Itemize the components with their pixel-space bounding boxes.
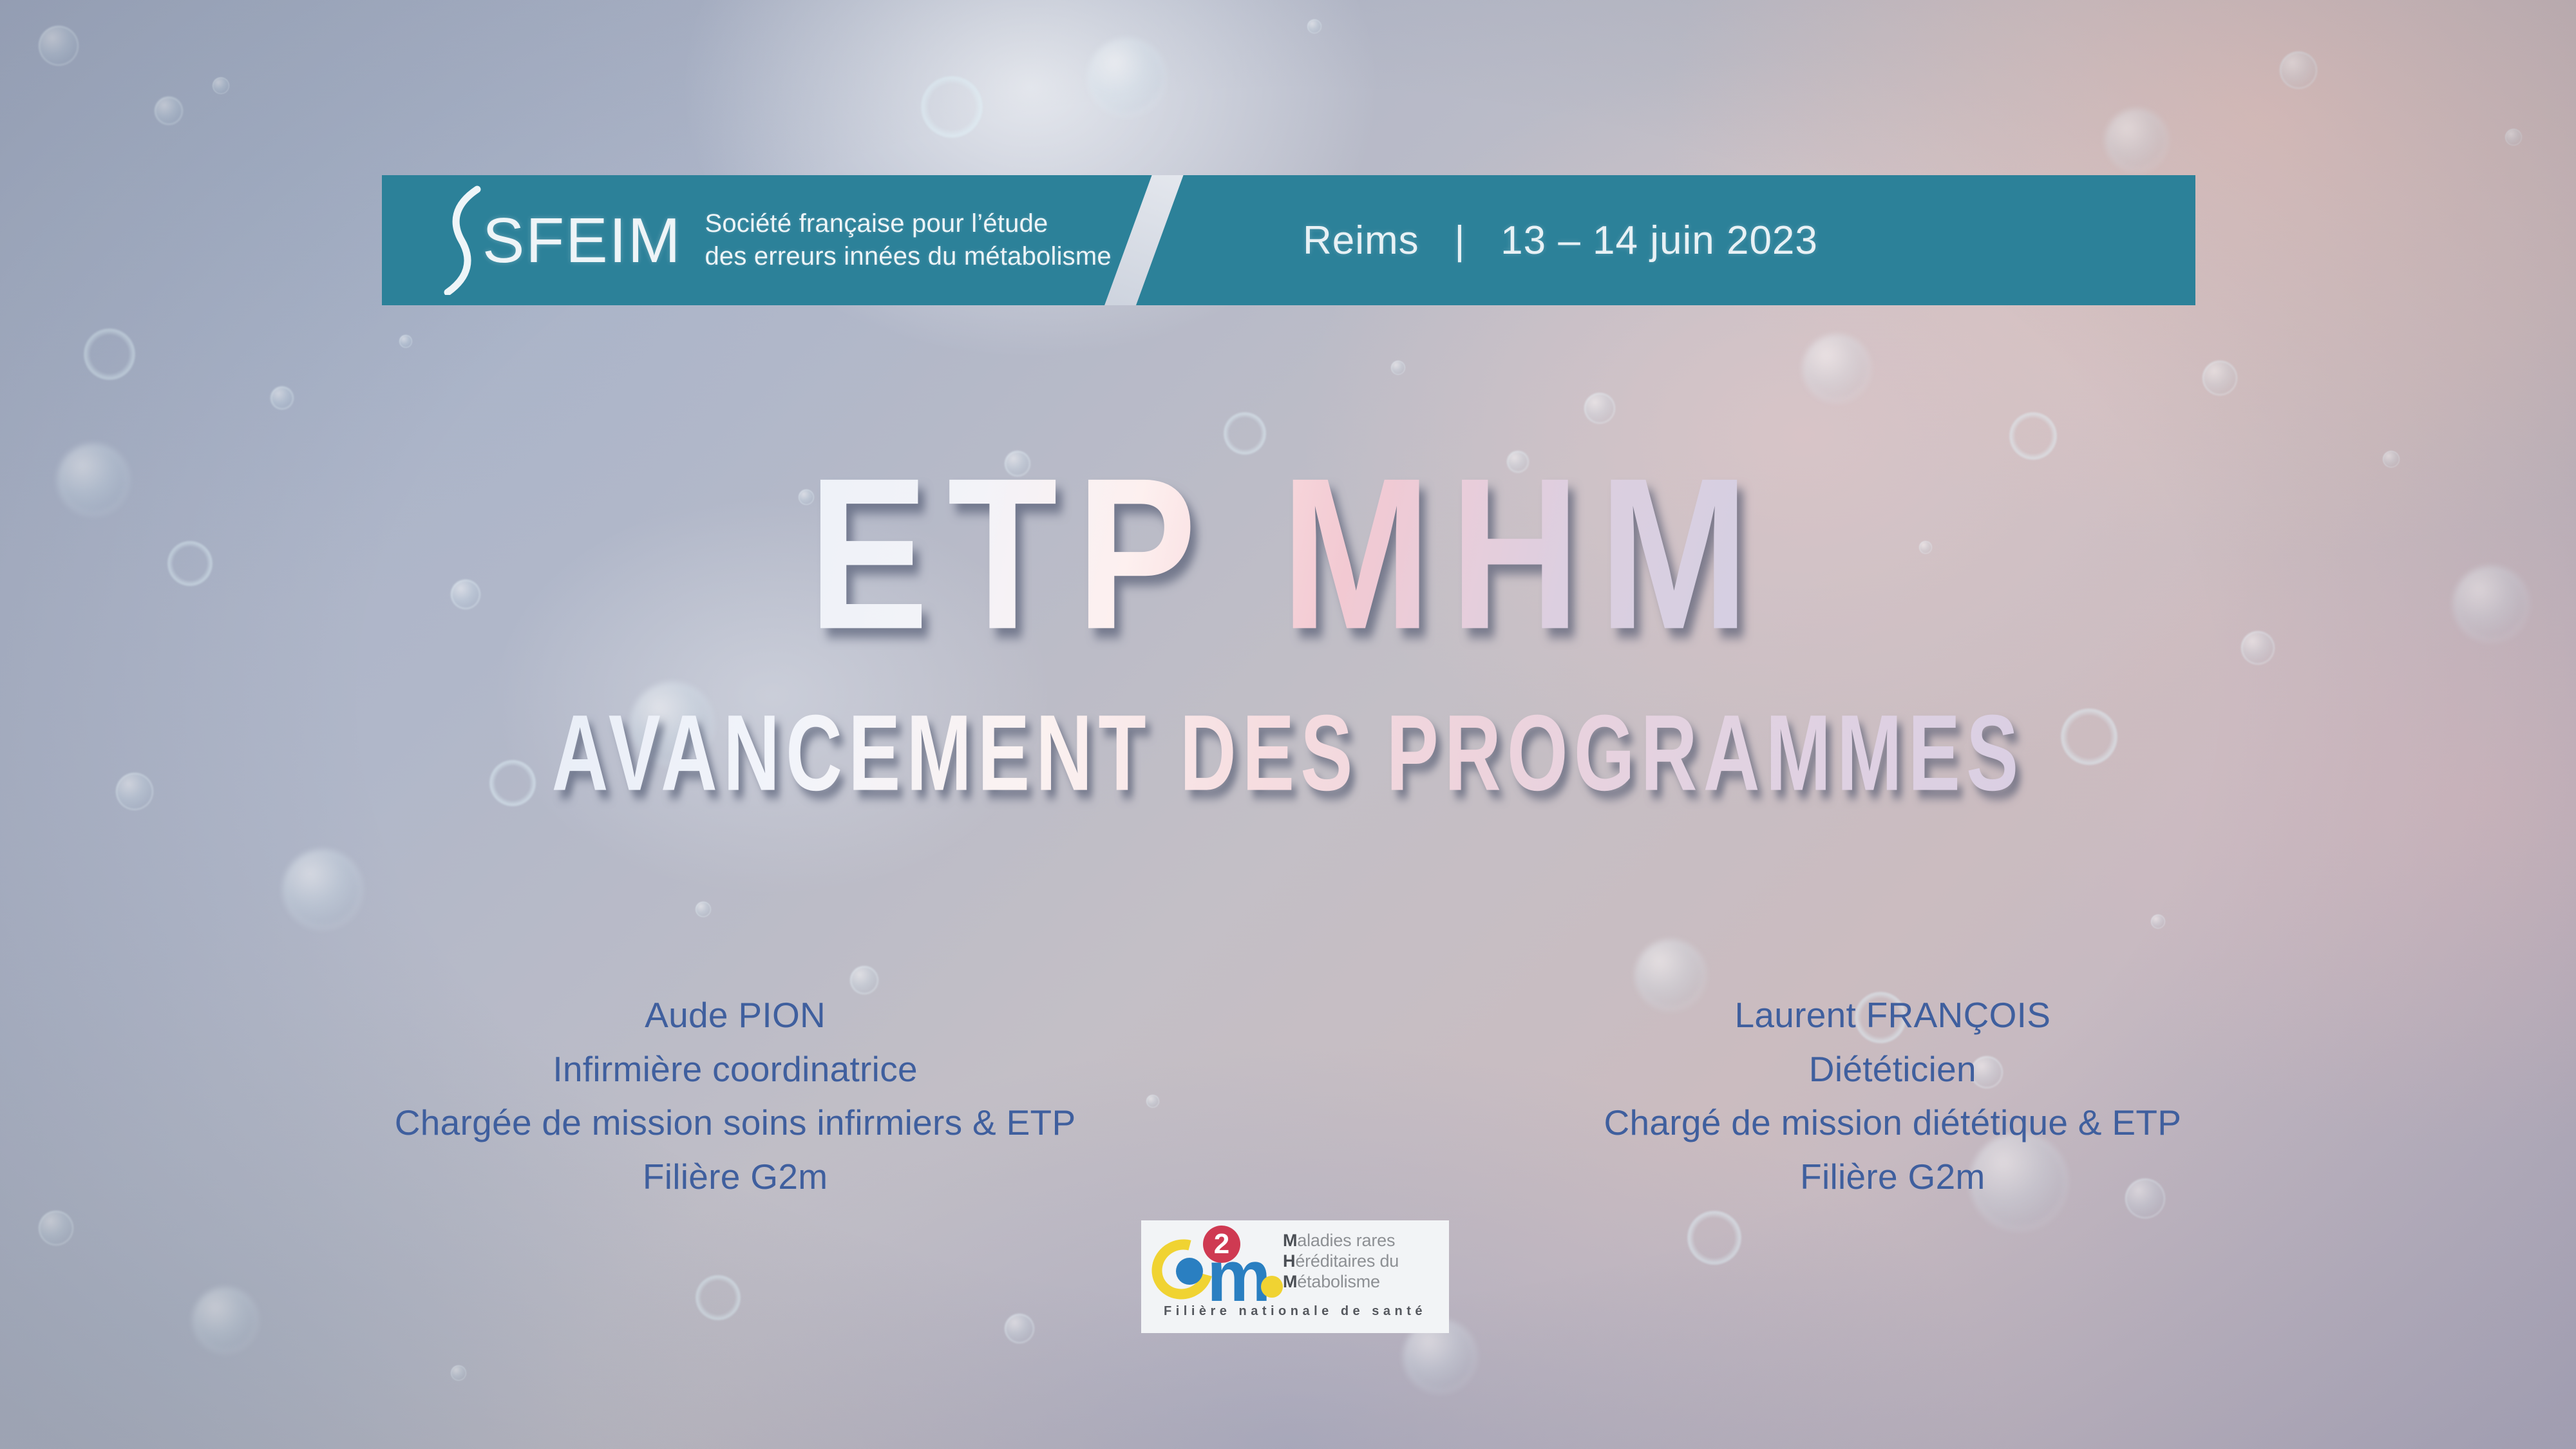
logo-text-line-3: Métabolisme (1283, 1272, 1443, 1293)
speaker-role: Diététicien (1604, 1043, 2181, 1097)
logo-text-line-2: Héréditaires du (1283, 1251, 1443, 1272)
logo-line-2-rest: éréditaires du (1295, 1251, 1399, 1271)
title-container: ETP MHM (0, 455, 2576, 603)
logo-line-2-initial: H (1283, 1251, 1295, 1271)
g2m-logo-tagline: Filière nationale de santé (1148, 1304, 1443, 1319)
conference-banner: SFEIM Société française pour l’étude des… (382, 175, 2195, 305)
logo-line-1-initial: M (1283, 1231, 1297, 1250)
g2m-logo-mark-icon: 2 m (1148, 1226, 1283, 1302)
speaker-network: Filière G2m (1604, 1150, 2181, 1204)
sfeim-acronym: SFEIM (482, 209, 681, 272)
logo-line-3-initial: M (1283, 1272, 1297, 1291)
subtitle: AVANCEMENT DES PROGRAMMES (552, 699, 2025, 808)
g-blue-dot-icon (1176, 1258, 1203, 1285)
speaker-block-right: Laurent FRANÇOIS Diététicien Chargé de m… (1604, 989, 2181, 1204)
subtitle-container: AVANCEMENT DES PROGRAMMES (0, 699, 2576, 775)
speakers-section: Aude PION Infirmière coordinatrice Charg… (0, 989, 2576, 1204)
logo-text-line-1: Maladies rares (1283, 1231, 1443, 1251)
sfeim-tagline-line-1: Société française pour l’étude (705, 207, 1111, 240)
event-location-date: Reims | 13 – 14 juin 2023 (1303, 218, 1818, 263)
banner-event-info: Reims | 13 – 14 juin 2023 (1303, 175, 1818, 305)
sfeim-tagline: Société française pour l’étude des erreu… (705, 207, 1111, 273)
logo-line-3-rest: étabolisme (1297, 1272, 1380, 1291)
m-yellow-dot-icon (1261, 1276, 1283, 1298)
speaker-network: Filière G2m (395, 1150, 1076, 1204)
g2m-logo: 2 m Maladies rares Héréditaires du Métab… (1141, 1220, 1449, 1333)
banner-divider-slash (1101, 175, 1189, 305)
speaker-mission: Chargée de mission soins infirmiers & ET… (395, 1096, 1076, 1150)
sfeim-swash-icon (432, 185, 491, 295)
speaker-block-left: Aude PION Infirmière coordinatrice Charg… (395, 989, 1076, 1204)
speaker-role: Infirmière coordinatrice (395, 1043, 1076, 1097)
main-title: ETP MHM (808, 455, 1768, 653)
sfeim-logo: SFEIM Société française pour l’étude des… (432, 175, 1112, 305)
logo-line-1-rest: aladies rares (1297, 1231, 1395, 1250)
g2m-logo-text: Maladies rares Héréditaires du Métabolis… (1283, 1226, 1443, 1293)
presentation-slide: SFEIM Société française pour l’étude des… (0, 0, 2576, 1449)
sfeim-tagline-line-2: des erreurs innées du métabolisme (705, 240, 1111, 273)
speaker-name: Laurent FRANÇOIS (1604, 989, 2181, 1043)
speaker-mission: Chargé de mission diététique & ETP (1604, 1096, 2181, 1150)
g2m-logo-main-row: 2 m Maladies rares Héréditaires du Métab… (1148, 1226, 1443, 1302)
m-letter-icon: m (1207, 1254, 1270, 1298)
speaker-name: Aude PION (395, 989, 1076, 1043)
